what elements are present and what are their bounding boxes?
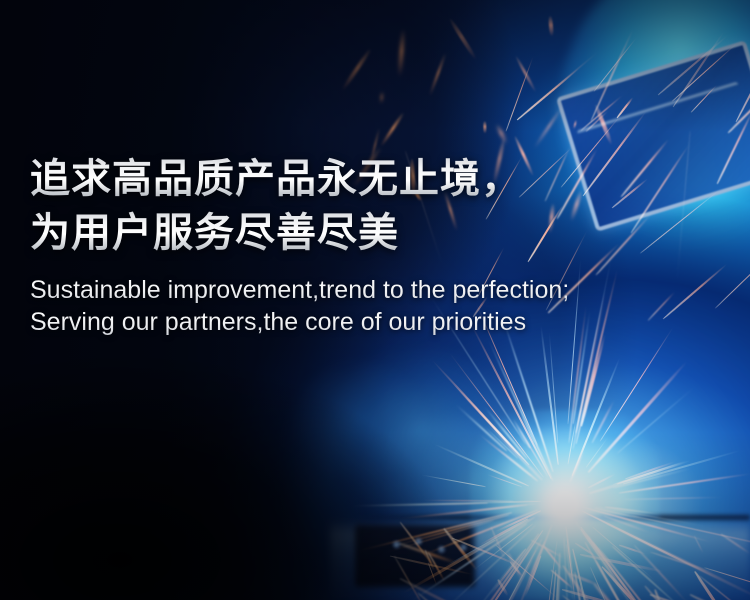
spark: [495, 124, 508, 144]
spark: [715, 238, 750, 309]
spark: [505, 56, 534, 132]
spark: [533, 108, 562, 149]
spark: [448, 18, 477, 60]
spark: [515, 56, 537, 92]
rivet-dot: [459, 543, 468, 552]
spark: [379, 112, 403, 146]
metal-bracket: [355, 525, 475, 587]
headline-line-2: 为用户服务尽善尽美: [30, 206, 710, 260]
subhead-block: Sustainable improvement,trend to the per…: [30, 274, 710, 338]
welding-hero-banner: 追求高品质产品永无止境， 为用户服务尽善尽美 Sustainable impro…: [0, 0, 750, 600]
welding-arc-core: [470, 410, 660, 600]
spark: [429, 54, 446, 96]
rivet-dot: [414, 537, 423, 546]
headline-line-1: 追求高品质产品永无止境，: [30, 152, 710, 206]
subhead-line-2: Serving our partners,the core of our pri…: [30, 306, 710, 338]
spark: [548, 16, 554, 36]
hero-text-block: 追求高品质产品永无止境， 为用户服务尽善尽美 Sustainable impro…: [30, 152, 710, 338]
rivet-dot: [392, 540, 401, 549]
spark: [379, 91, 383, 104]
subhead-line-1: Sustainable improvement,trend to the per…: [30, 274, 710, 306]
spark: [398, 30, 406, 77]
spark: [342, 48, 372, 90]
rivet-dot: [437, 545, 446, 554]
spark: [484, 121, 487, 133]
